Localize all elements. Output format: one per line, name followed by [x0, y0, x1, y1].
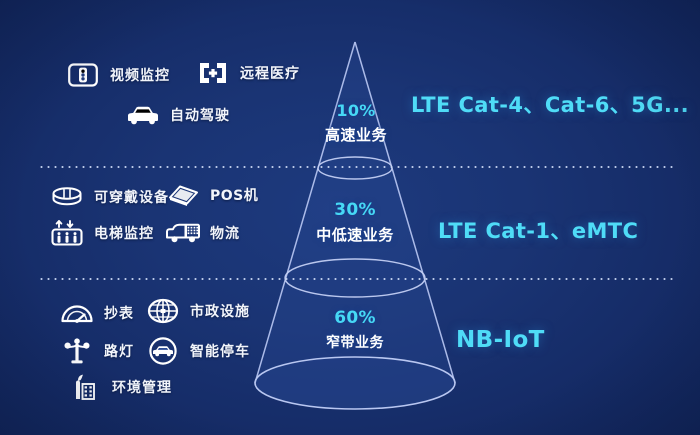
delivery-truck-icon	[166, 218, 200, 248]
tier2-category: 中低速业务	[285, 224, 425, 245]
elevator-icon	[50, 218, 84, 248]
street-lamp-icon	[60, 336, 94, 366]
tier2-percent: 30%	[305, 200, 405, 220]
tier3-percent: 60%	[305, 308, 405, 328]
environment-building-icon	[68, 372, 102, 402]
tier1-percent: 10%	[306, 101, 406, 120]
meter-gauge-icon	[60, 298, 94, 328]
app-item-wearable-device: 可穿戴设备	[50, 182, 169, 212]
app-label: 路灯	[104, 341, 134, 361]
tier2-technology-label: LTE Cat-1、eMTC	[438, 215, 638, 245]
app-label: 自动驾驶	[170, 105, 230, 125]
app-label: 可穿戴设备	[94, 187, 169, 207]
wearable-band-icon	[50, 182, 84, 212]
app-item-autonomous-driving: 自动驾驶	[126, 100, 230, 130]
tier-divider-2	[38, 278, 676, 280]
app-label: 环境管理	[112, 377, 172, 397]
infographic-canvas: 10% 高速业务 30% 中低速业务 60% 窄带业务 LTE Cat-4、Ca…	[0, 0, 700, 435]
telemedicine-icon	[196, 58, 230, 88]
municipal-globe-icon	[146, 296, 180, 326]
app-label: 智能停车	[190, 341, 250, 361]
traffic-light-icon	[66, 60, 100, 90]
app-item-smart-parking: 智能停车	[146, 336, 250, 366]
app-item-logistics: 物流	[166, 218, 240, 248]
app-item-street-lamp: 路灯	[60, 336, 134, 366]
tier-divider-1	[38, 166, 676, 168]
app-item-telemedicine: 远程医疗	[196, 58, 300, 88]
car-icon	[126, 100, 160, 130]
tier1-technology-label: LTE Cat-4、Cat-6、5G...	[411, 89, 689, 119]
app-label: 远程医疗	[240, 63, 300, 83]
tier3-technology-label: NB-IoT	[456, 327, 545, 353]
app-label: 电梯监控	[94, 223, 154, 243]
smart-parking-icon	[146, 336, 180, 366]
tier3-category: 窄带业务	[295, 332, 415, 352]
app-label: 抄表	[104, 303, 134, 323]
app-label: POS机	[210, 185, 258, 205]
app-item-meter-reading: 抄表	[60, 298, 134, 328]
app-item-video-surveillance: 视频监控	[66, 60, 170, 90]
app-label: 视频监控	[110, 65, 170, 85]
app-item-elevator-monitoring: 电梯监控	[50, 218, 154, 248]
pos-terminal-icon	[166, 180, 200, 210]
app-label: 市政设施	[190, 301, 250, 321]
app-item-municipal-facilities: 市政设施	[146, 296, 250, 326]
app-item-pos-terminal: POS机	[166, 180, 258, 210]
app-item-environment-management: 环境管理	[68, 372, 172, 402]
app-label: 物流	[210, 223, 240, 243]
tier1-category: 高速业务	[296, 124, 416, 145]
cone-base-ellipse	[255, 357, 455, 409]
